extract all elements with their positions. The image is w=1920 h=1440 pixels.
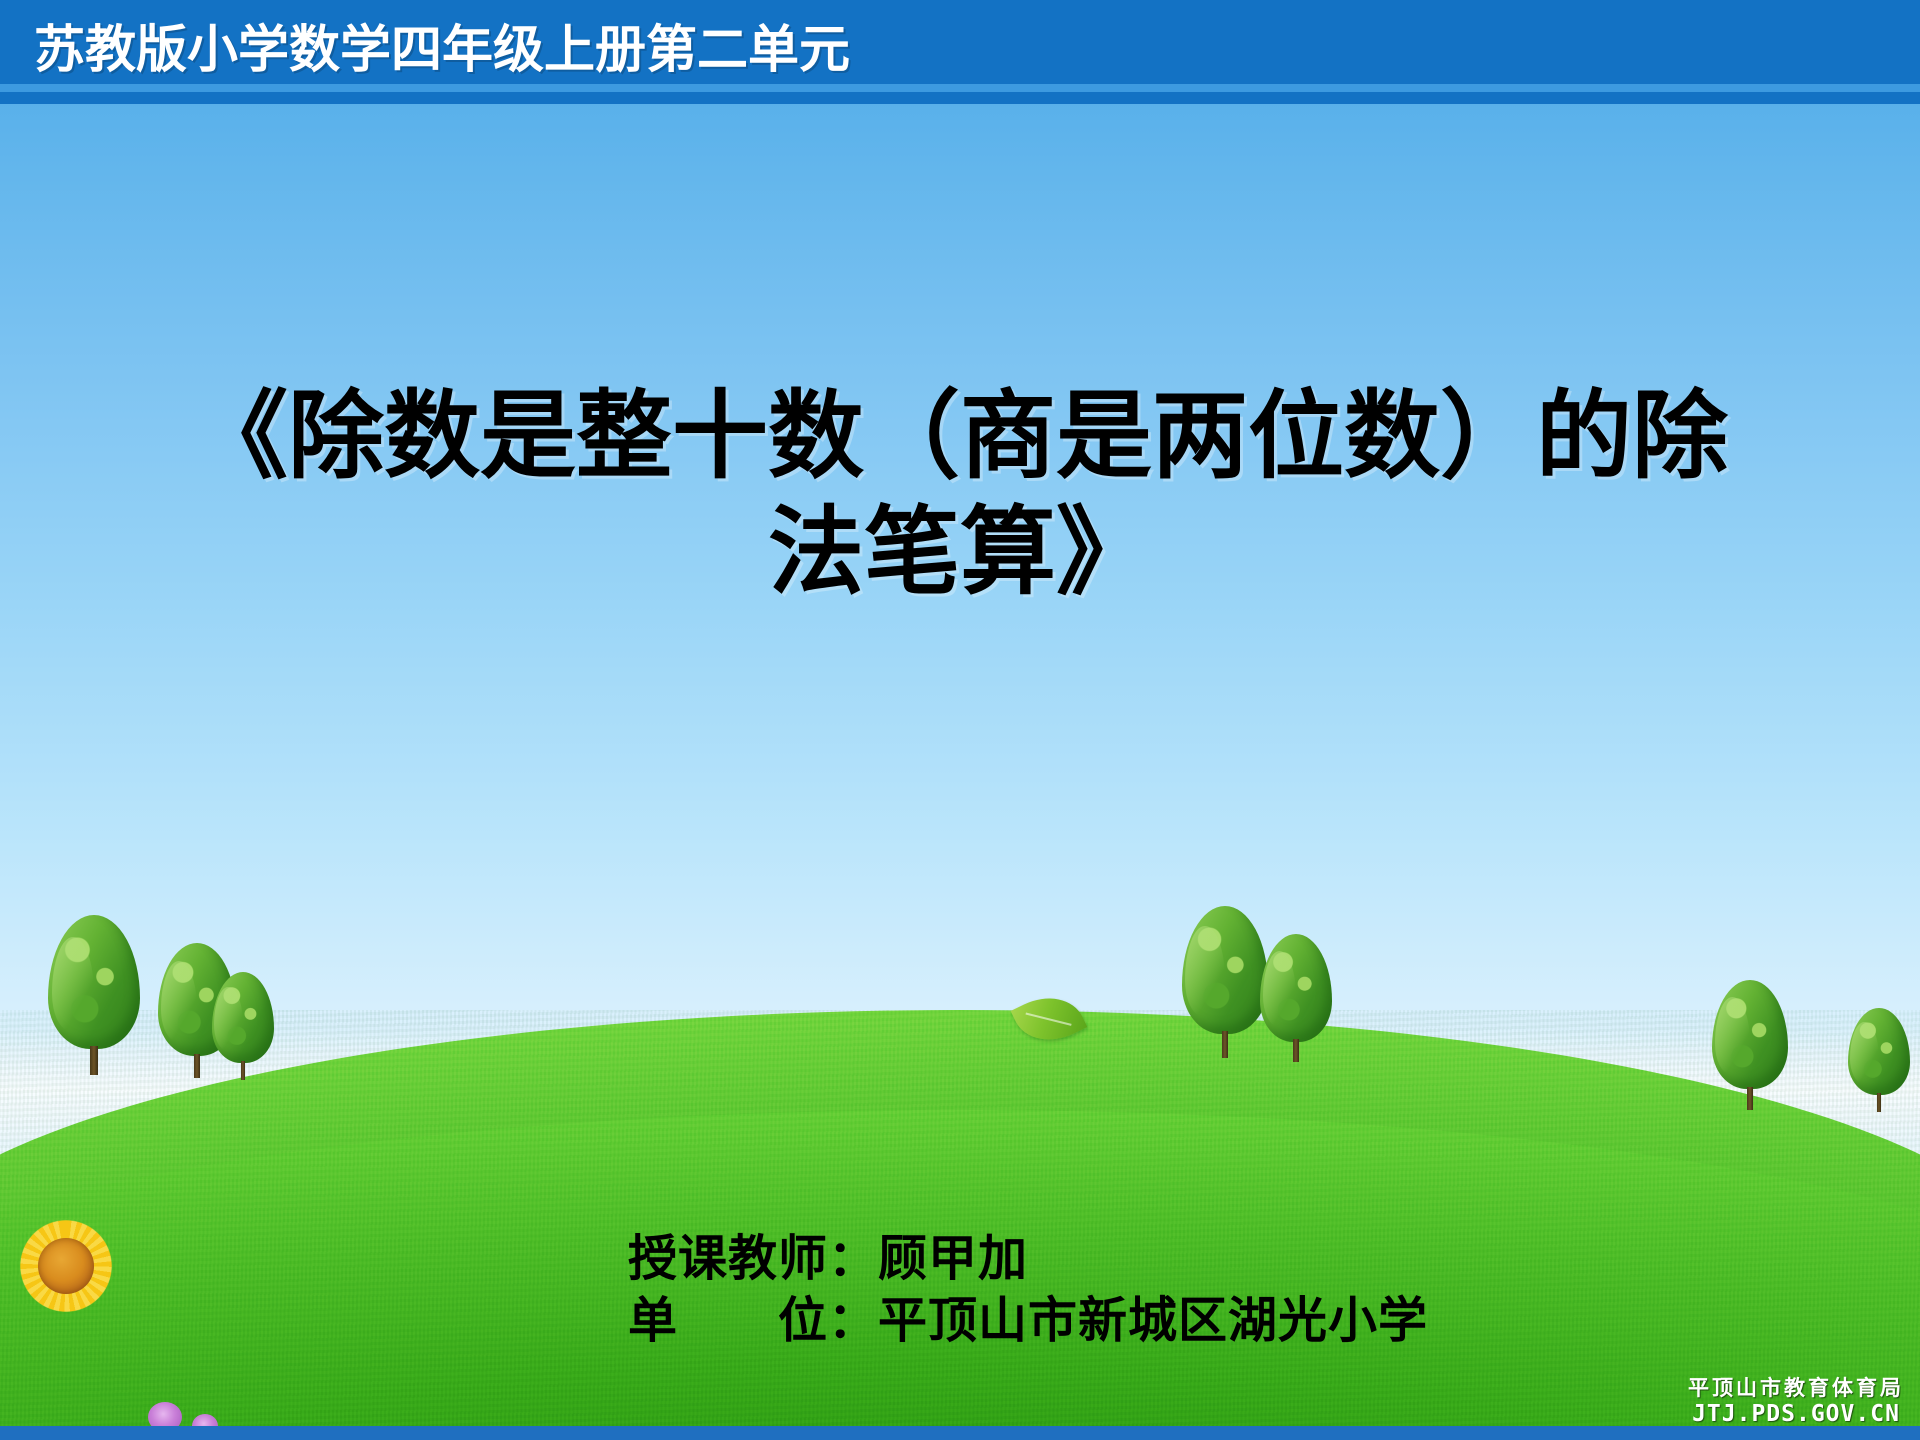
tree-right-1-icon — [1712, 980, 1788, 1110]
tree-trunk — [1877, 1093, 1882, 1112]
teacher-line: 授课教师：顾甲加 — [628, 1228, 1428, 1290]
tree-crown — [1848, 1008, 1910, 1095]
title-line-1: 《除数是整十数（商是两位数）的除 — [0, 378, 1920, 494]
school-line: 单 位：平顶山市新城区湖光小学 — [628, 1290, 1428, 1352]
tree-trunk — [90, 1046, 97, 1075]
slide-title: 《除数是整十数（商是两位数）的除 法笔算》 — [0, 378, 1920, 610]
tree-trunk — [1747, 1087, 1753, 1110]
sunflower-icon — [2, 1202, 130, 1330]
title-line-2: 法笔算》 — [0, 494, 1920, 610]
header-banner: 苏教版小学数学四年级上册第二单元 — [0, 0, 1920, 104]
tree-right-2-icon — [1848, 1008, 1910, 1112]
presenter-info: 授课教师：顾甲加 单 位：平顶山市新城区湖光小学 — [628, 1228, 1428, 1352]
tree-crown — [212, 972, 274, 1063]
tree-left-1-icon — [48, 915, 140, 1075]
tree-trunk — [1293, 1039, 1299, 1062]
watermark-url: JTJ.PDS.GOV.CN — [1688, 1401, 1904, 1428]
tree-crown — [48, 915, 140, 1049]
presentation-slide: 苏教版小学数学四年级上册第二单元 《除数是整十数（商是两位数）的除 法笔算》 授… — [0, 0, 1920, 1440]
tree-crown — [1260, 934, 1332, 1042]
header-stripe-light — [0, 84, 1920, 92]
bottom-bar — [0, 1426, 1920, 1440]
grass-texture — [0, 1010, 1920, 1440]
watermark: 平顶山市教育体育局 JTJ.PDS.GOV.CN — [1688, 1376, 1904, 1428]
watermark-chinese: 平顶山市教育体育局 — [1688, 1376, 1904, 1401]
sunflower-center — [38, 1238, 94, 1294]
tree-left-3-icon — [212, 972, 274, 1080]
tree-mid-1-icon — [1182, 906, 1268, 1058]
tree-mid-2-icon — [1260, 934, 1332, 1062]
tree-crown — [1712, 980, 1788, 1089]
tree-crown — [1182, 906, 1268, 1034]
tree-trunk — [241, 1061, 246, 1080]
tree-trunk — [194, 1054, 200, 1078]
header-title: 苏教版小学数学四年级上册第二单元 — [34, 22, 850, 80]
grass-landscape — [0, 970, 1920, 1440]
header-stripe-dark — [0, 92, 1920, 104]
tree-trunk — [1222, 1031, 1229, 1058]
